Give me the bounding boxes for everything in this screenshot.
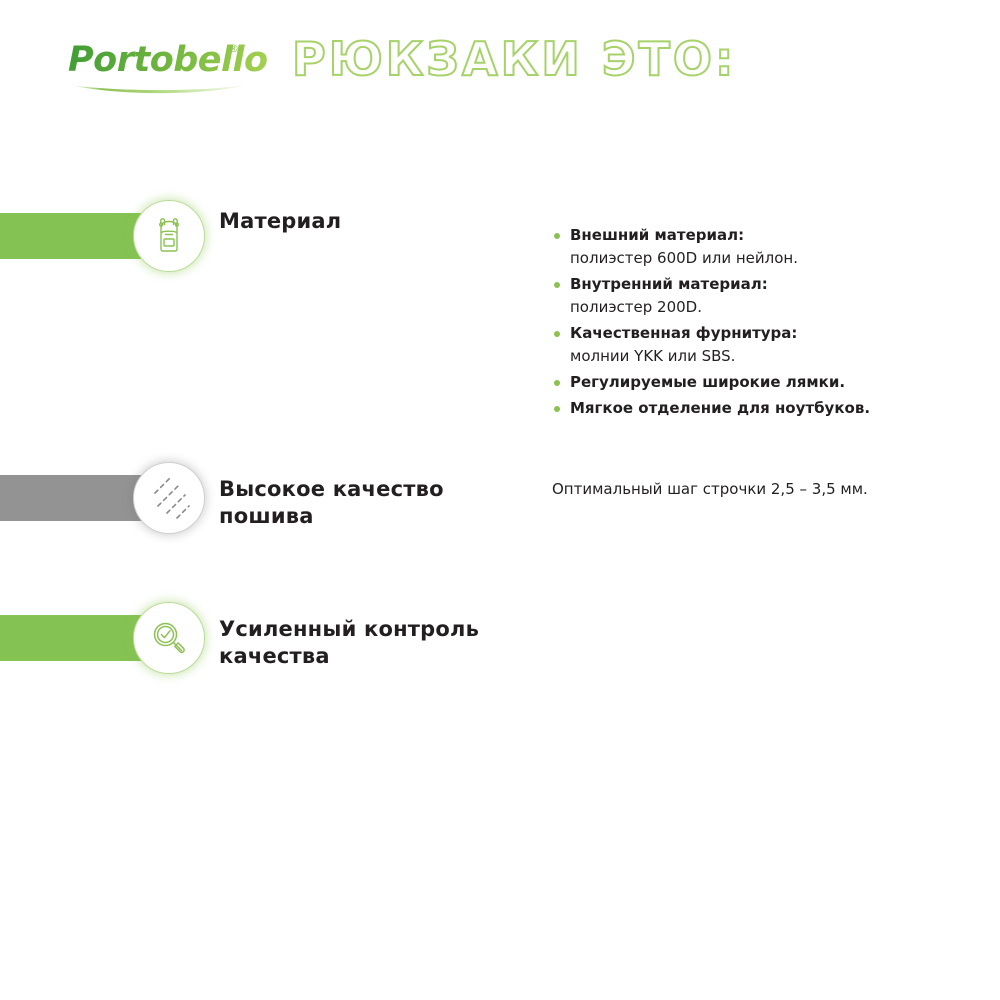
material-bullet-list: Внешний материал: полиэстер 600D или ней…: [552, 224, 972, 420]
detail-stitching: Оптимальный шаг строчки 2,5 – 3,5 мм.: [552, 478, 972, 501]
row-heading-quality-control: Усиленный контроль качества: [219, 616, 519, 670]
brand-logo: Portobello ®: [68, 38, 253, 100]
bullet-primary: Внутренний материал:: [570, 273, 972, 296]
row-heading-material: Материал: [219, 208, 519, 235]
page-title: РЮКЗАКИ ЭТО:: [292, 36, 736, 82]
bullet-secondary: молнии YKK или SBS.: [570, 345, 972, 368]
list-item: Внутренний материал: полиэстер 200D.: [552, 273, 972, 319]
bullet-primary: Регулируемые широкие лямки.: [570, 371, 972, 394]
bullet-primary: Внешний материал:: [570, 224, 972, 247]
magnifier-check-icon: [147, 616, 191, 660]
list-item: Внешний материал: полиэстер 600D или ней…: [552, 224, 972, 270]
logo-swoosh-icon: [68, 82, 253, 98]
bullet-primary: Качественная фурнитура:: [570, 322, 972, 345]
bullet-secondary: полиэстер 200D.: [570, 296, 972, 319]
registered-trademark-icon: ®: [228, 42, 239, 55]
stitching-icon-badge: [133, 462, 205, 534]
list-item: Качественная фурнитура: молнии YKK или S…: [552, 322, 972, 368]
magnifier-check-icon-badge: [133, 602, 205, 674]
detail-material: Внешний материал: полиэстер 600D или ней…: [552, 224, 972, 423]
row-heading-stitching: Высокое качество пошива: [219, 476, 519, 530]
bullet-secondary: полиэстер 600D или нейлон.: [570, 247, 972, 270]
stitching-detail-text: Оптимальный шаг строчки 2,5 – 3,5 мм.: [552, 478, 972, 501]
stitching-icon: [146, 475, 192, 521]
list-item: Регулируемые широкие лямки.: [552, 371, 972, 394]
page-header: Portobello ® РЮКЗАКИ ЭТО:: [0, 0, 1000, 130]
backpack-icon: [147, 214, 191, 258]
bullet-primary: Мягкое отделение для ноутбуков.: [570, 397, 972, 420]
list-item: Мягкое отделение для ноутбуков.: [552, 397, 972, 420]
backpack-icon-badge: [133, 200, 205, 272]
